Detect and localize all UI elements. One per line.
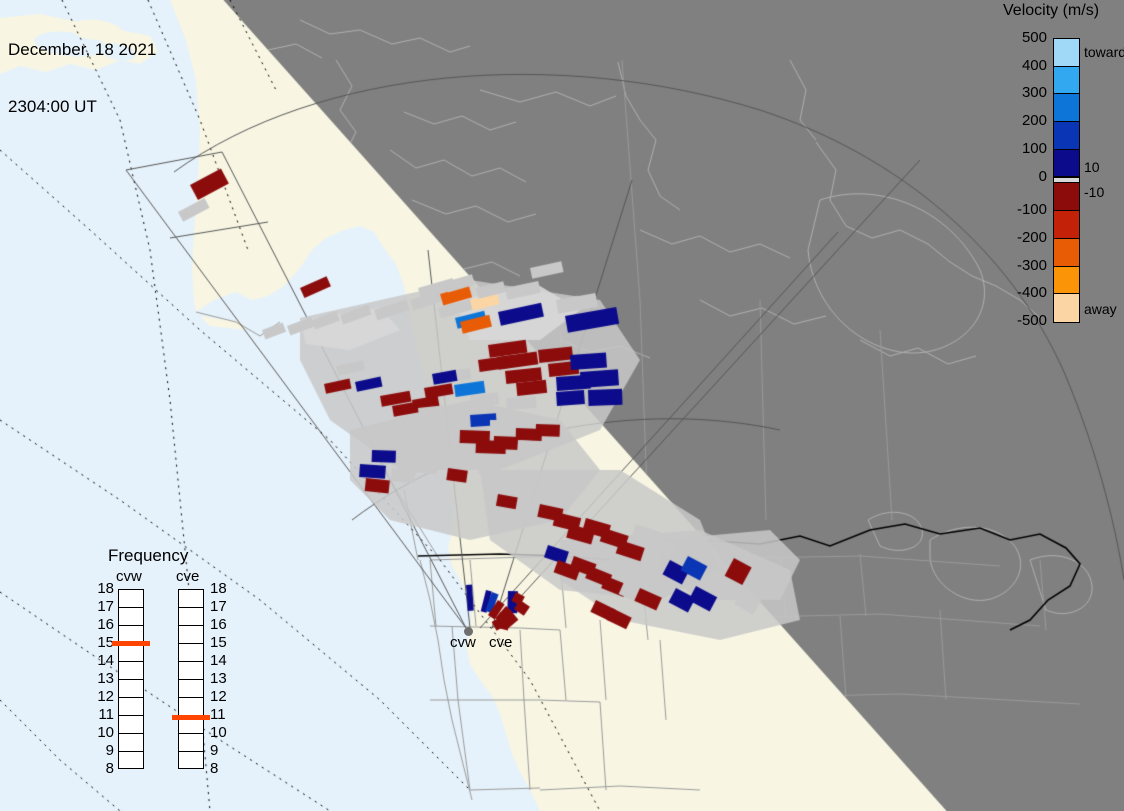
- colorbar-tick-label: 500: [1022, 29, 1047, 46]
- date-label: December, 18 2021: [8, 40, 156, 59]
- time-label: 2304:00 UT: [8, 97, 156, 116]
- frequency-scale-cell: [119, 590, 143, 608]
- frequency-scale-cvw: [118, 589, 144, 769]
- frequency-tick-label: 13: [92, 670, 114, 687]
- frequency-scale-cell: [179, 734, 203, 752]
- colorbar-tick-label: 0: [1039, 168, 1047, 185]
- colorbar-segment: [1054, 267, 1079, 295]
- frequency-tick-label: 15: [210, 634, 227, 651]
- frequency-scale-cell: [119, 608, 143, 626]
- colorbar-tick-label: -200: [1017, 229, 1047, 246]
- frequency-tick-label: 16: [210, 616, 227, 633]
- frequency-tick-label: 10: [92, 724, 114, 741]
- site-label-cve: cve: [489, 634, 512, 651]
- frequency-tick-label: 8: [210, 760, 218, 777]
- frequency-radar-name-cvw: cvw: [116, 568, 142, 585]
- colorbar-segment: [1054, 94, 1079, 122]
- colorbar-tick-label: 300: [1022, 84, 1047, 101]
- frequency-scale-cell: [119, 716, 143, 734]
- colorbar-segment: [1054, 211, 1079, 239]
- colorbar-segment: [1054, 239, 1079, 267]
- frequency-tick-label: 14: [210, 652, 227, 669]
- colorbar-tick-label: -300: [1017, 257, 1047, 274]
- frequency-panel-title: Frequency: [108, 546, 188, 566]
- frequency-tick-label: 12: [210, 688, 227, 705]
- velocity-legend-title: Velocity (m/s): [1003, 2, 1099, 20]
- frequency-scale-cell: [119, 734, 143, 752]
- frequency-tick-label: 11: [92, 706, 114, 723]
- frequency-scale-cell: [179, 752, 203, 770]
- colorbar-neg-threshold-label: -10: [1084, 184, 1104, 200]
- colorbar-tick-label: -100: [1017, 201, 1047, 218]
- colorbar-segment: [1054, 183, 1079, 211]
- frequency-scale-cell: [179, 626, 203, 644]
- frequency-scale-cell: [119, 644, 143, 662]
- colorbar-tick-label: -400: [1017, 284, 1047, 301]
- frequency-tick-label: 11: [210, 706, 226, 723]
- frequency-panel: Frequency cvw18171615141312111098cve1817…: [80, 546, 240, 786]
- colorbar-toward-label: toward: [1084, 44, 1124, 60]
- frequency-scale-cell: [179, 590, 203, 608]
- velocity-legend: Velocity (m/s) 5004003002001000-100-200-…: [985, 0, 1124, 335]
- colorbar-segment: [1054, 294, 1079, 322]
- colorbar-tick-label: 400: [1022, 57, 1047, 74]
- superdarn-fan-plot: December, 18 2021 2304:00 UT Velocity (m…: [0, 0, 1124, 811]
- frequency-marker-cve: [172, 715, 210, 720]
- colorbar-tick-label: -500: [1017, 312, 1047, 329]
- colorbar-tick-label: 200: [1022, 112, 1047, 129]
- colorbar-segment: [1054, 150, 1079, 178]
- velocity-colorbar: [1053, 38, 1080, 323]
- frequency-scale-cell: [179, 698, 203, 716]
- colorbar-tick-label: 100: [1022, 140, 1047, 157]
- frequency-tick-label: 13: [210, 670, 227, 687]
- frequency-scale-cell: [119, 680, 143, 698]
- frequency-tick-label: 15: [92, 634, 114, 651]
- frequency-scale-cell: [179, 608, 203, 626]
- frequency-tick-label: 9: [210, 742, 218, 759]
- colorbar-segment: [1054, 67, 1079, 95]
- colorbar-pos-threshold-label: 10: [1084, 159, 1100, 175]
- frequency-scale-cell: [179, 662, 203, 680]
- frequency-radar-name-cve: cve: [176, 568, 199, 585]
- frequency-tick-label: 18: [92, 580, 114, 597]
- frequency-tick-label: 17: [92, 598, 114, 615]
- frequency-tick-label: 12: [92, 688, 114, 705]
- frequency-tick-label: 10: [210, 724, 227, 741]
- frequency-tick-label: 17: [210, 598, 227, 615]
- frequency-tick-label: 18: [210, 580, 227, 597]
- frequency-tick-label: 14: [92, 652, 114, 669]
- frequency-scale-cell: [119, 662, 143, 680]
- timestamp-block: December, 18 2021 2304:00 UT: [8, 2, 156, 154]
- colorbar-away-label: away: [1084, 301, 1117, 317]
- colorbar-segment: [1054, 122, 1079, 150]
- frequency-scale-cve: [178, 589, 204, 769]
- frequency-marker-cvw: [112, 641, 150, 646]
- frequency-scale-cell: [119, 698, 143, 716]
- frequency-scale-cell: [179, 644, 203, 662]
- frequency-tick-label: 9: [92, 742, 114, 759]
- frequency-scale-cell: [119, 752, 143, 770]
- frequency-scale-cell: [179, 680, 203, 698]
- colorbar-segment: [1054, 39, 1079, 67]
- frequency-tick-label: 16: [92, 616, 114, 633]
- frequency-tick-label: 8: [92, 760, 114, 777]
- site-label-cvw: cvw: [450, 634, 476, 651]
